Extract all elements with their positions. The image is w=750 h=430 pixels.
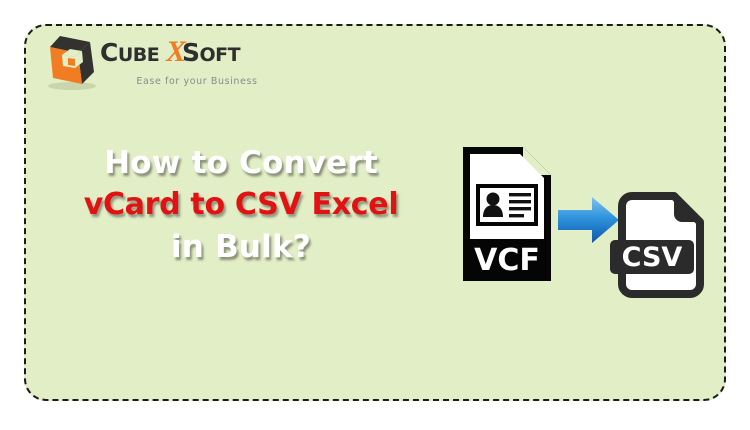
logo-wordmark-cube-rest: UBE — [118, 44, 159, 66]
logo-wordmark-cube: CUBE — [100, 38, 159, 70]
headline-block: How to Convert vCard to CSV Excel in Bul… — [36, 142, 446, 268]
vcf-file-icon: VCF — [461, 145, 553, 283]
logo-wordmark-soft: SOFT — [182, 38, 240, 70]
vcf-label: VCF — [474, 243, 540, 278]
csv-file-icon: CSV — [608, 190, 708, 300]
cubexsoft-logo[interactable]: CUBE X SOFT Ease for your Business — [38, 32, 268, 100]
logo-tagline: Ease for your Business — [112, 76, 282, 87]
headline-line-3: in Bulk? — [36, 226, 446, 268]
csv-label: CSV — [622, 242, 683, 273]
logo-wordmark-soft-rest: OFT — [200, 44, 241, 66]
banner-canvas: CUBE X SOFT Ease for your Business How t… — [0, 0, 750, 430]
cube-logo-icon — [38, 34, 102, 92]
logo-wordmark: CUBE X SOFT — [100, 38, 270, 78]
headline-line-1: How to Convert — [36, 142, 446, 184]
headline-line-2: vCard to CSV Excel — [36, 184, 446, 226]
